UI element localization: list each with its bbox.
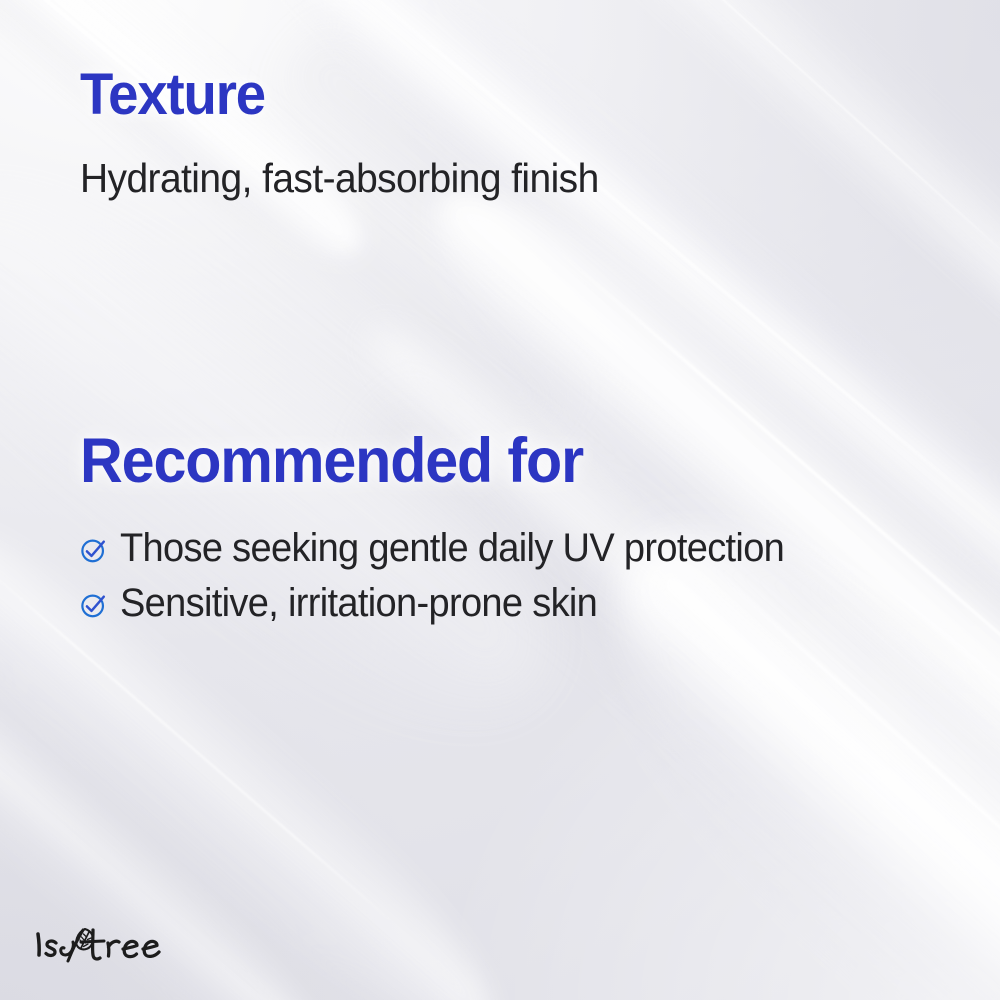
list-item: Those seeking gentle daily UV protection [80, 527, 819, 570]
brand-logo [33, 918, 178, 970]
list-item-label: Sensitive, irritation-prone skin [120, 582, 597, 625]
list-item-label: Those seeking gentle daily UV protection [120, 527, 784, 570]
section-texture-body: Hydrating, fast-absorbing finish [80, 156, 626, 201]
section-texture: Texture Hydrating, fast-absorbing finish [80, 66, 626, 201]
check-circle-icon [80, 534, 107, 564]
section-recommended: Recommended for Those seeking gentle dai… [80, 430, 819, 625]
section-texture-subtitle: Hydrating, fast-absorbing finish [80, 156, 599, 201]
card-content: Texture Hydrating, fast-absorbing finish… [0, 0, 1000, 1000]
product-info-card: Texture Hydrating, fast-absorbing finish… [0, 0, 1000, 1000]
section-texture-heading: Texture [80, 66, 593, 124]
recommended-bullet-list: Those seeking gentle daily UV protection… [80, 527, 819, 625]
section-recommended-heading: Recommended for [80, 430, 775, 493]
check-circle-icon [80, 589, 107, 619]
list-item: Sensitive, irritation-prone skin [80, 582, 819, 625]
